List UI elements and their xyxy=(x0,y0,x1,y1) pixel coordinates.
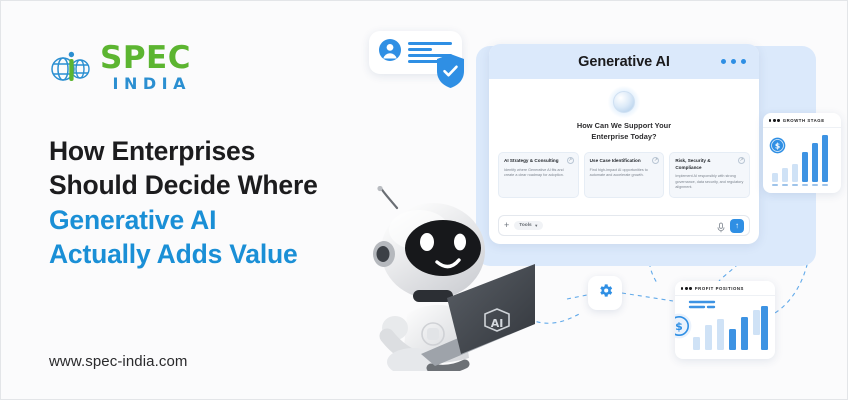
blog-banner: SPEC INDIA How Enterprises Should Decide… xyxy=(0,0,848,400)
gear-chip[interactable] xyxy=(588,276,622,310)
chat-prompt-line-2: Enterprise Today? xyxy=(591,132,656,141)
suggestion-card-use-case[interactable]: ↗ Use Case Identification Find high-impa… xyxy=(584,152,665,198)
widget-label: GROWTH STAGE xyxy=(783,118,825,123)
headline-line-4: Actually Adds Value xyxy=(49,239,298,269)
more-dots-icon[interactable] xyxy=(721,59,747,65)
widget-header: GROWTH STAGE xyxy=(763,113,841,128)
growth-stage-widget: GROWTH STAGE xyxy=(763,113,841,193)
brand-wordmark: SPEC INDIA xyxy=(100,43,191,92)
svg-text:$: $ xyxy=(675,320,683,333)
brand-logo[interactable]: SPEC INDIA xyxy=(49,43,191,92)
illustration-area: Generative AI How Can We Support Your En… xyxy=(351,1,848,400)
widget-header: PROFIT POSITIONS xyxy=(675,281,775,296)
suggestion-card-body: Find high-impact AI opportunities to aut… xyxy=(590,168,659,179)
suggestion-card-title: Risk, Security & Compliance xyxy=(675,158,744,171)
suggestion-card-body: Identify where Generative AI fits and cr… xyxy=(504,168,573,179)
laptop-ai-badge: AI xyxy=(491,317,504,330)
brand-name-primary: SPEC xyxy=(100,43,191,74)
suggestion-card-body: Implement AI responsibly with strong gov… xyxy=(675,174,744,191)
chat-title: Generative AI xyxy=(578,54,670,70)
globe-icon xyxy=(49,46,93,90)
suggestion-card-risk-security[interactable]: ↗ Risk, Security & Compliance Implement … xyxy=(669,152,750,198)
gear-icon xyxy=(597,282,614,304)
arrow-up-right-icon: ↗ xyxy=(567,157,574,164)
ai-orb-icon xyxy=(613,91,635,113)
website-url[interactable]: www.spec-india.com xyxy=(49,353,188,370)
user-avatar-icon xyxy=(379,39,401,66)
headline-line-2: Should Decide Where xyxy=(49,170,318,200)
microphone-icon[interactable] xyxy=(717,220,725,231)
arrow-up-right-icon: ↗ xyxy=(738,157,745,164)
send-button[interactable]: ↑ xyxy=(730,219,744,233)
headline-line-1: How Enterprises xyxy=(49,136,255,166)
shield-check-icon xyxy=(435,53,466,89)
suggestion-card-title: Use Case Identification xyxy=(590,158,659,165)
more-dots-icon[interactable] xyxy=(769,119,780,121)
chat-prompt: How Can We Support Your Enterprise Today… xyxy=(489,120,759,143)
suggestion-card-title: AI Strategy & Consulting xyxy=(504,158,573,165)
page-title: How Enterprises Should Decide Where Gene… xyxy=(49,134,379,272)
more-dots-icon[interactable] xyxy=(681,287,692,289)
profit-positions-widget: PROFIT POSITIONS xyxy=(675,281,775,359)
chat-header: Generative AI xyxy=(489,44,759,79)
widget-label: PROFIT POSITIONS xyxy=(695,286,744,291)
svg-text:$: $ xyxy=(775,142,780,151)
brand-name-secondary: INDIA xyxy=(100,76,191,92)
headline-line-3: Generative AI xyxy=(49,205,216,235)
chat-prompt-line-1: How Can We Support Your xyxy=(577,121,671,130)
dollar-coin-icon: $ xyxy=(769,137,786,159)
ai-robot-mascot: AI xyxy=(369,186,539,371)
